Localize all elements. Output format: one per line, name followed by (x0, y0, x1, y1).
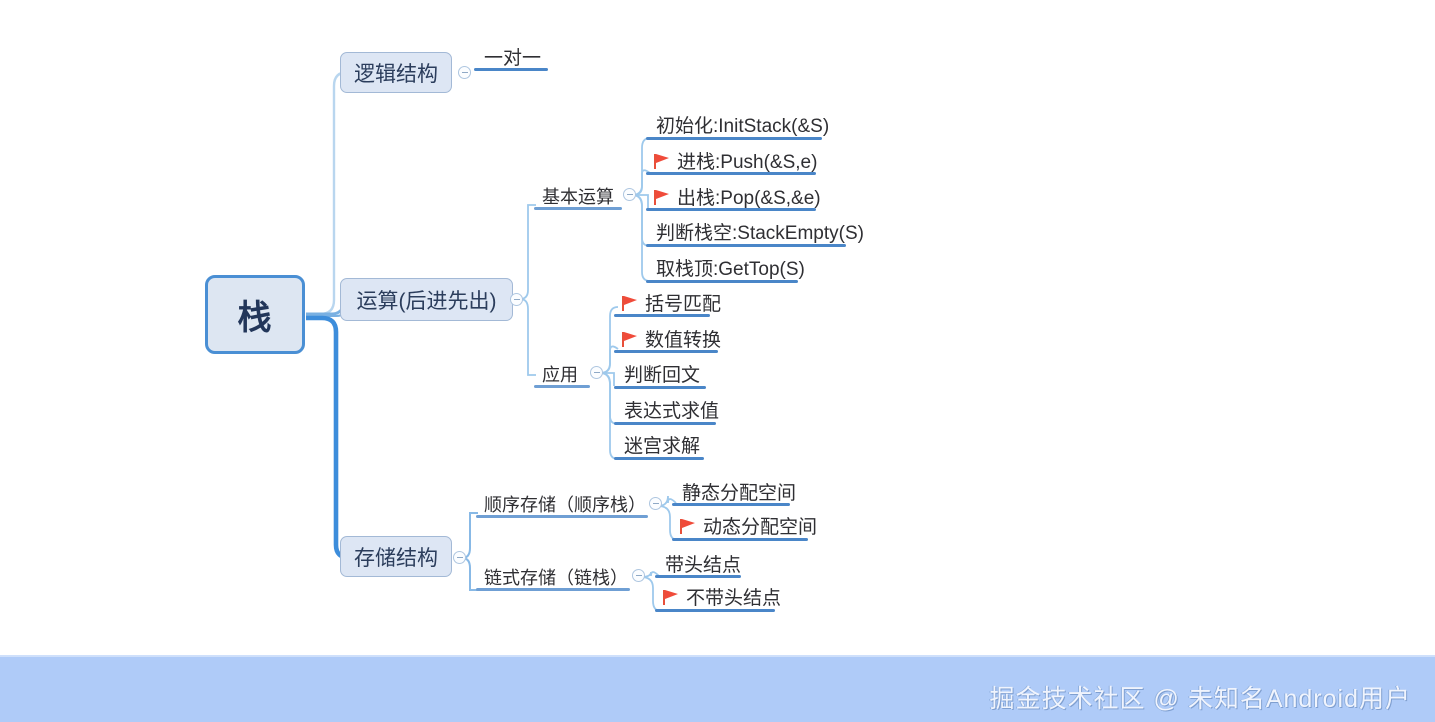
collapse-toggle-operations[interactable] (510, 293, 523, 306)
leaf-underline (614, 350, 718, 353)
collapse-toggle-basic-operations[interactable] (623, 188, 636, 201)
leaf-underline (646, 172, 816, 175)
branch-node-storage-structure[interactable]: 存储结构 (340, 536, 452, 577)
leaf-node-label: 带头结点 (665, 550, 741, 577)
collapse-toggle-linked-storage[interactable] (632, 569, 645, 582)
leaf-node-static-allocation[interactable]: 静态分配空间 (678, 479, 798, 504)
group-node-label: 基本运算 (542, 183, 614, 209)
root-node[interactable]: 栈 (205, 275, 305, 354)
root-node-label: 栈 (238, 290, 273, 339)
flag-icon (663, 589, 679, 606)
branch-node-operations[interactable]: 运算(后进先出) (340, 278, 513, 321)
watermark-text: 掘金技术社区 @ 未知名Android用户 (990, 679, 1411, 715)
leaf-underline (614, 422, 716, 425)
leaf-node-one-to-one[interactable]: 一对一 (480, 44, 560, 68)
leaf-node-label: 括号匹配 (645, 289, 721, 316)
leaf-underline (646, 137, 822, 140)
leaf-node-label: 判断栈空:StackEmpty(S) (656, 218, 864, 245)
leaf-node-palindrome[interactable]: 判断回文 (620, 361, 710, 386)
leaf-node-label: 出栈:Pop(&S,&e) (677, 183, 821, 210)
branch-node-label: 逻辑结构 (354, 58, 438, 88)
leaf-node-label: 不带头结点 (686, 583, 781, 610)
group-node-label: 顺序存储（顺序栈） (484, 491, 646, 517)
group-node-applications[interactable]: 应用 (540, 362, 590, 386)
flag-icon (622, 295, 638, 312)
leaf-underline (655, 575, 741, 578)
leaf-node-label: 一对一 (484, 43, 541, 70)
group-underline (534, 385, 590, 388)
leaf-underline (614, 314, 710, 317)
leaf-underline (646, 280, 798, 283)
collapse-toggle-storage-structure[interactable] (453, 551, 466, 564)
leaf-node-bracket-matching[interactable]: 括号匹配 (620, 290, 720, 315)
group-underline (476, 515, 648, 518)
leaf-node-label: 取栈顶:GetTop(S) (656, 254, 805, 281)
collapse-toggle-sequential-storage[interactable] (649, 497, 662, 510)
leaf-node-label: 初始化:InitStack(&S) (656, 111, 829, 138)
branch-node-label: 运算(后进先出) (357, 285, 497, 315)
leaf-node-label: 进栈:Push(&S,e) (677, 147, 817, 174)
leaf-node-numeric-conversion[interactable]: 数值转换 (620, 326, 720, 351)
leaf-underline (672, 538, 808, 541)
flag-icon (622, 331, 638, 348)
leaf-node-initstack[interactable]: 初始化:InitStack(&S) (652, 112, 832, 137)
leaf-node-label: 表达式求值 (624, 396, 719, 423)
flag-icon (680, 518, 696, 535)
mindmap-canvas: 栈 逻辑结构 一对一 运算(后进先出) 基本运算 初始化:InitStack(&… (0, 0, 1435, 720)
leaf-node-pop[interactable]: 出栈:Pop(&S,&e) (652, 184, 827, 209)
leaf-underline (614, 386, 706, 389)
group-node-sequential-storage[interactable]: 顺序存储（顺序栈） (482, 492, 646, 516)
footer-bar: 掘金技术社区 @ 未知名Android用户 (0, 655, 1435, 722)
leaf-node-with-head-node[interactable]: 带头结点 (661, 551, 751, 576)
leaf-node-dynamic-allocation[interactable]: 动态分配空间 (678, 513, 810, 538)
collapse-toggle-applications[interactable] (590, 366, 603, 379)
leaf-node-label: 判断回文 (624, 360, 700, 387)
leaf-underline (614, 457, 704, 460)
leaf-node-label: 迷宫求解 (624, 431, 700, 458)
leaf-node-maze-solving[interactable]: 迷宫求解 (620, 432, 710, 457)
flag-icon (654, 189, 670, 206)
group-underline (534, 207, 622, 210)
leaf-underline (655, 609, 775, 612)
leaf-node-label: 动态分配空间 (703, 512, 817, 539)
leaf-node-push[interactable]: 进栈:Push(&S,e) (652, 148, 822, 173)
collapse-toggle-logical-structure[interactable] (458, 66, 471, 79)
group-node-label: 应用 (542, 361, 578, 387)
leaf-node-expression-evaluation[interactable]: 表达式求值 (620, 397, 720, 422)
leaf-node-without-head-node[interactable]: 不带头结点 (661, 584, 781, 609)
leaf-node-gettop[interactable]: 取栈顶:GetTop(S) (652, 255, 802, 280)
leaf-node-label: 数值转换 (645, 325, 721, 352)
mindmap-edges (0, 0, 1435, 720)
group-node-linked-storage[interactable]: 链式存储（链栈） (482, 565, 628, 589)
leaf-node-stackempty[interactable]: 判断栈空:StackEmpty(S) (652, 219, 852, 244)
flag-icon (654, 153, 670, 170)
leaf-underline (646, 244, 846, 247)
group-underline (476, 588, 630, 591)
branch-node-label: 存储结构 (354, 542, 438, 572)
leaf-underline (474, 68, 548, 71)
leaf-underline (646, 208, 816, 211)
branch-node-logical-structure[interactable]: 逻辑结构 (340, 52, 452, 93)
group-node-label: 链式存储（链栈） (484, 564, 628, 590)
group-node-basic-operations[interactable]: 基本运算 (540, 184, 626, 208)
leaf-underline (672, 503, 790, 506)
leaf-node-label: 静态分配空间 (682, 478, 796, 505)
